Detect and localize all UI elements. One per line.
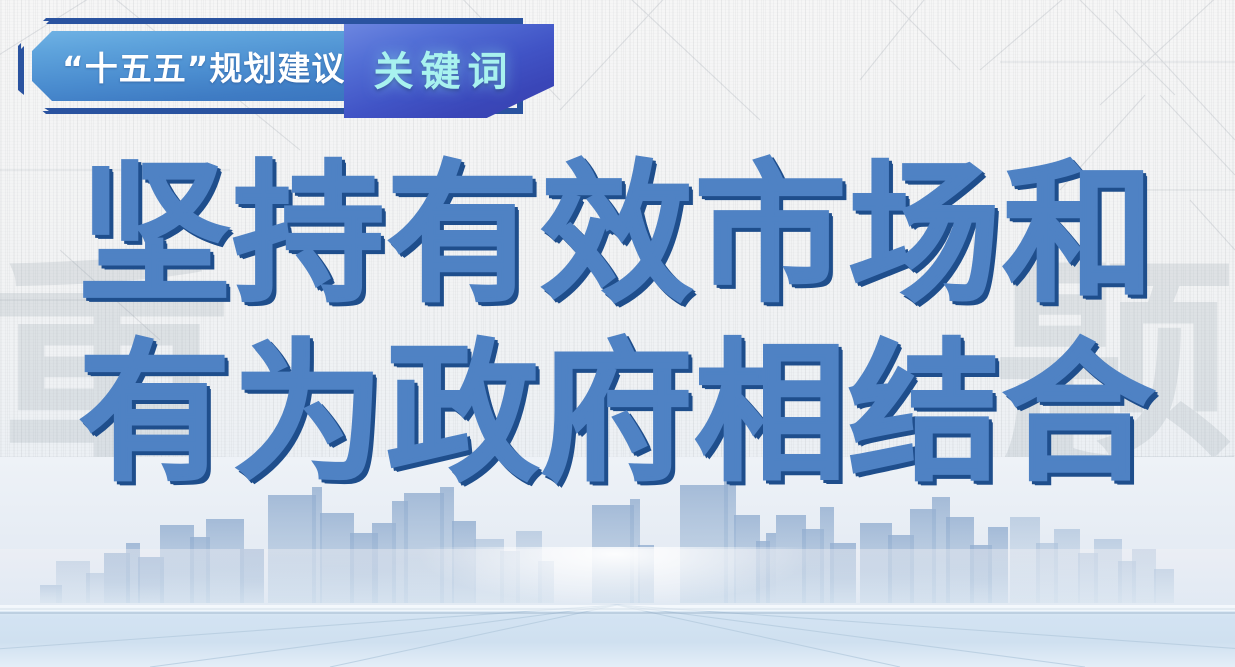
city-skyline-illustration — [0, 457, 1235, 667]
headline-line-1: 坚持有效市场和 — [0, 152, 1235, 317]
badge-keyword-label: 关键词 — [368, 39, 531, 103]
watermark-left: 重 — [0, 258, 239, 497]
badge-section-plan[interactable]: “十五五”规划建议 — [32, 31, 362, 101]
poster-canvas: 重 题 — [0, 0, 1235, 667]
headline-line-2: 有为政府相结合 — [0, 331, 1235, 496]
watermark-right: 题 — [992, 262, 1235, 494]
keyword-badge: “十五五”规划建议 关键词 — [18, 18, 558, 122]
headline-block: 坚持有效市场和 有为政府相结合 — [0, 152, 1235, 496]
badge-plan-label: “十五五”规划建议 — [32, 42, 345, 90]
